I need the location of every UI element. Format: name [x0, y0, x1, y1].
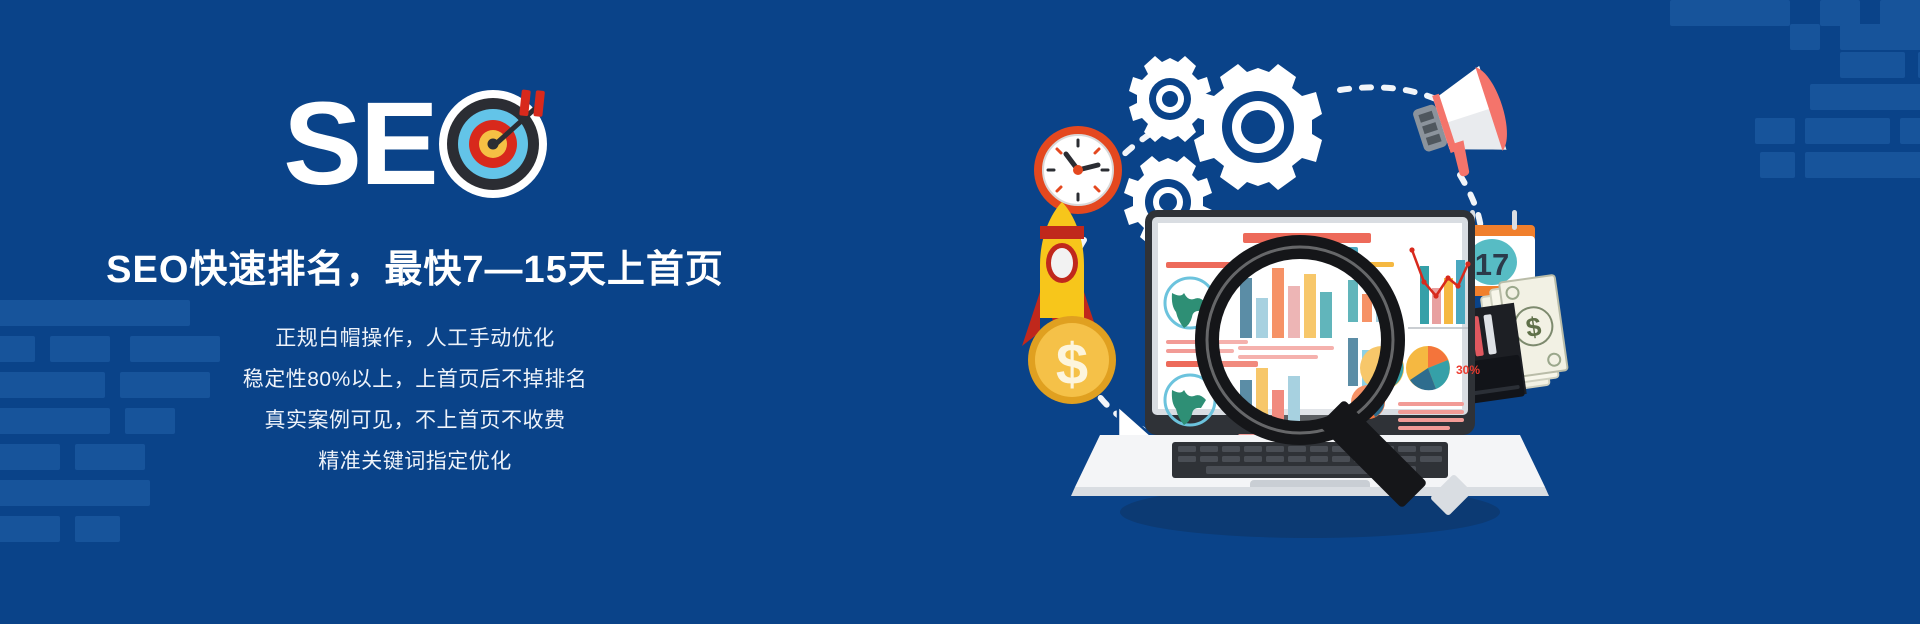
pie-chart [1406, 346, 1450, 390]
feature-line: 精准关键词指定优化 [0, 441, 830, 482]
target-bullseye-icon [439, 90, 547, 198]
seo-illustration: $ [1000, 50, 1660, 580]
page-title: SEO快速排名，最快7—15天上首页 [0, 238, 830, 293]
chart-percent-label: 30% [1456, 363, 1480, 377]
feature-list: 正规白帽操作，人工手动优化 稳定性80%以上，上首页后不掉排名 真实案例可见，不… [0, 318, 830, 482]
clock-icon [1034, 126, 1122, 214]
feature-line: 正规白帽操作，人工手动优化 [0, 318, 830, 359]
coin-dollar-icon: $ [1028, 316, 1116, 404]
megaphone-icon [1405, 63, 1519, 186]
svg-text:$: $ [1056, 332, 1088, 397]
feature-line: 真实案例可见，不上首页不收费 [0, 400, 830, 441]
calendar-day-label: 17 [1475, 247, 1509, 282]
seo-logo: SE [0, 88, 830, 200]
feature-line: 稳定性80%以上，上首页后不掉排名 [0, 359, 830, 400]
seo-banner: SE SEO快速排名，最快7—15天上首页 正规白帽操作，人工手动优化 稳定性8… [0, 0, 1920, 624]
logo-letters: SE [283, 85, 436, 203]
text-column: SE SEO快速排名，最快7—15天上首页 正规白帽操作，人工手动优化 稳定性8… [0, 0, 830, 624]
